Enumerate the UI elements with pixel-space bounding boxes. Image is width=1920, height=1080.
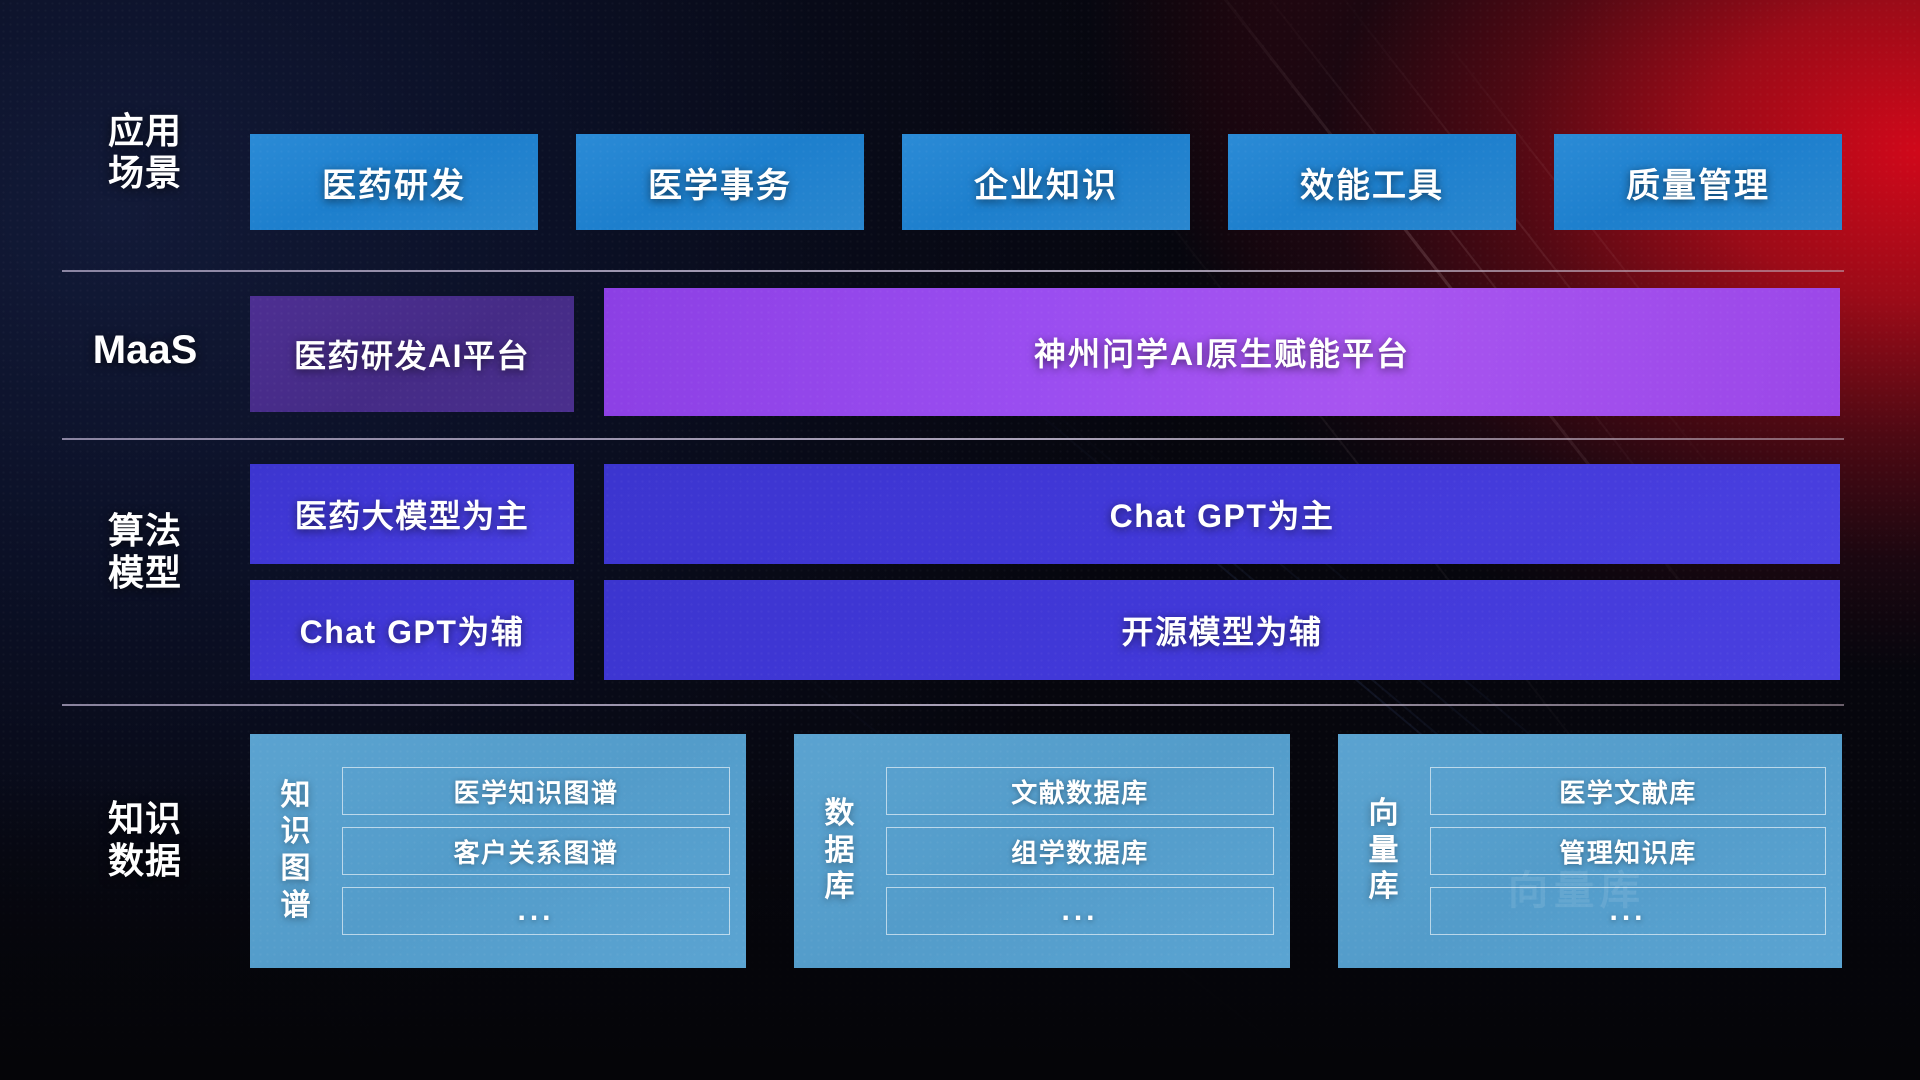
algorithm-box-left-secondary[interactable]: Chat GPT为辅 xyxy=(250,580,574,680)
row-label-maas: MaaS xyxy=(62,327,228,374)
app-scenario-box-5[interactable]: 质量管理 xyxy=(1554,134,1842,230)
knowledge-item-more[interactable]: ... xyxy=(342,887,730,935)
knowledge-item[interactable]: 管理知识库 xyxy=(1430,827,1826,875)
knowledge-group-title-char: 库 xyxy=(794,869,886,906)
knowledge-group-title-char: 识 xyxy=(250,814,342,851)
knowledge-group-title-char: 数 xyxy=(794,796,886,833)
row-label-algorithm-line1: 算法 xyxy=(62,510,228,552)
knowledge-group-database[interactable]: 数 据 库 文献数据库 组学数据库 ... xyxy=(794,734,1290,968)
row-label-knowledge-line1: 知识 xyxy=(62,798,228,840)
knowledge-item-more[interactable]: ... xyxy=(1430,887,1826,935)
algorithm-label: 开源模型为辅 xyxy=(1121,607,1322,653)
algorithm-box-right-secondary[interactable]: 开源模型为辅 xyxy=(604,580,1840,680)
algorithm-label: Chat GPT为辅 xyxy=(300,607,525,653)
knowledge-group-title: 数 据 库 xyxy=(794,796,886,906)
knowledge-item[interactable]: 医学知识图谱 xyxy=(342,767,730,815)
row-label-knowledge: 知识 数据 xyxy=(62,798,228,883)
app-scenario-label: 医学事务 xyxy=(648,158,792,207)
row-label-knowledge-line2: 数据 xyxy=(62,840,228,882)
knowledge-group-title-char: 谱 xyxy=(250,888,342,925)
app-scenario-box-2[interactable]: 医学事务 xyxy=(576,134,864,230)
maas-platform-label: 神州问学AI原生赋能平台 xyxy=(1034,329,1410,375)
maas-platform-box-pharma[interactable]: 医药研发AI平台 xyxy=(250,296,574,412)
algorithm-label: Chat GPT为主 xyxy=(1110,491,1335,537)
knowledge-group-title-char: 量 xyxy=(1338,833,1430,870)
divider-algorithm-knowledge xyxy=(62,704,1844,706)
app-scenario-box-1[interactable]: 医药研发 xyxy=(250,134,538,230)
knowledge-group-title-char: 知 xyxy=(250,778,342,815)
knowledge-group-title-char: 库 xyxy=(1338,869,1430,906)
app-scenario-label: 医药研发 xyxy=(322,158,466,207)
architecture-diagram: 应用 场景 医药研发 医学事务 企业知识 效能工具 质量管理 MaaS 医药研发… xyxy=(0,0,1920,1080)
knowledge-item[interactable]: 组学数据库 xyxy=(886,827,1274,875)
row-label-application-line2: 场景 xyxy=(62,152,228,194)
app-scenario-box-3[interactable]: 企业知识 xyxy=(902,134,1190,230)
knowledge-item-list: 医学知识图谱 客户关系图谱 ... xyxy=(342,767,730,935)
knowledge-item[interactable]: 文献数据库 xyxy=(886,767,1274,815)
knowledge-group-title: 知 识 图 谱 xyxy=(250,778,342,924)
knowledge-group-title-char: 向 xyxy=(1338,796,1430,833)
app-scenario-label: 企业知识 xyxy=(974,158,1118,207)
maas-platform-box-shenzhou[interactable]: 神州问学AI原生赋能平台 xyxy=(604,288,1840,416)
knowledge-group-vector-store[interactable]: 向 量 库 向量库 医学文献库 管理知识库 ... xyxy=(1338,734,1842,968)
app-scenario-box-4[interactable]: 效能工具 xyxy=(1228,134,1516,230)
row-label-application-line1: 应用 xyxy=(62,110,228,152)
row-label-algorithm: 算法 模型 xyxy=(62,510,228,595)
knowledge-group-title-char: 据 xyxy=(794,833,886,870)
knowledge-group-title: 向 量 库 xyxy=(1338,796,1430,906)
divider-maas-algorithm xyxy=(62,438,1844,440)
algorithm-box-right-primary[interactable]: Chat GPT为主 xyxy=(604,464,1840,564)
app-scenario-label: 效能工具 xyxy=(1300,158,1444,207)
algorithm-box-left-primary[interactable]: 医药大模型为主 xyxy=(250,464,574,564)
algorithm-label: 医药大模型为主 xyxy=(295,491,530,537)
knowledge-item[interactable]: 客户关系图谱 xyxy=(342,827,730,875)
app-scenario-label: 质量管理 xyxy=(1626,158,1770,207)
row-label-maas-text: MaaS xyxy=(62,327,228,374)
knowledge-item-more[interactable]: ... xyxy=(886,887,1274,935)
knowledge-group-knowledge-graph[interactable]: 知 识 图 谱 医学知识图谱 客户关系图谱 ... xyxy=(250,734,746,968)
row-label-algorithm-line2: 模型 xyxy=(62,552,228,594)
row-label-application: 应用 场景 xyxy=(62,110,228,195)
knowledge-item-list: 医学文献库 管理知识库 ... xyxy=(1430,767,1826,935)
knowledge-group-title-char: 图 xyxy=(250,851,342,888)
maas-platform-label: 医药研发AI平台 xyxy=(294,331,530,377)
knowledge-item-list: 文献数据库 组学数据库 ... xyxy=(886,767,1274,935)
divider-application-maas xyxy=(62,270,1844,272)
knowledge-item[interactable]: 医学文献库 xyxy=(1430,767,1826,815)
